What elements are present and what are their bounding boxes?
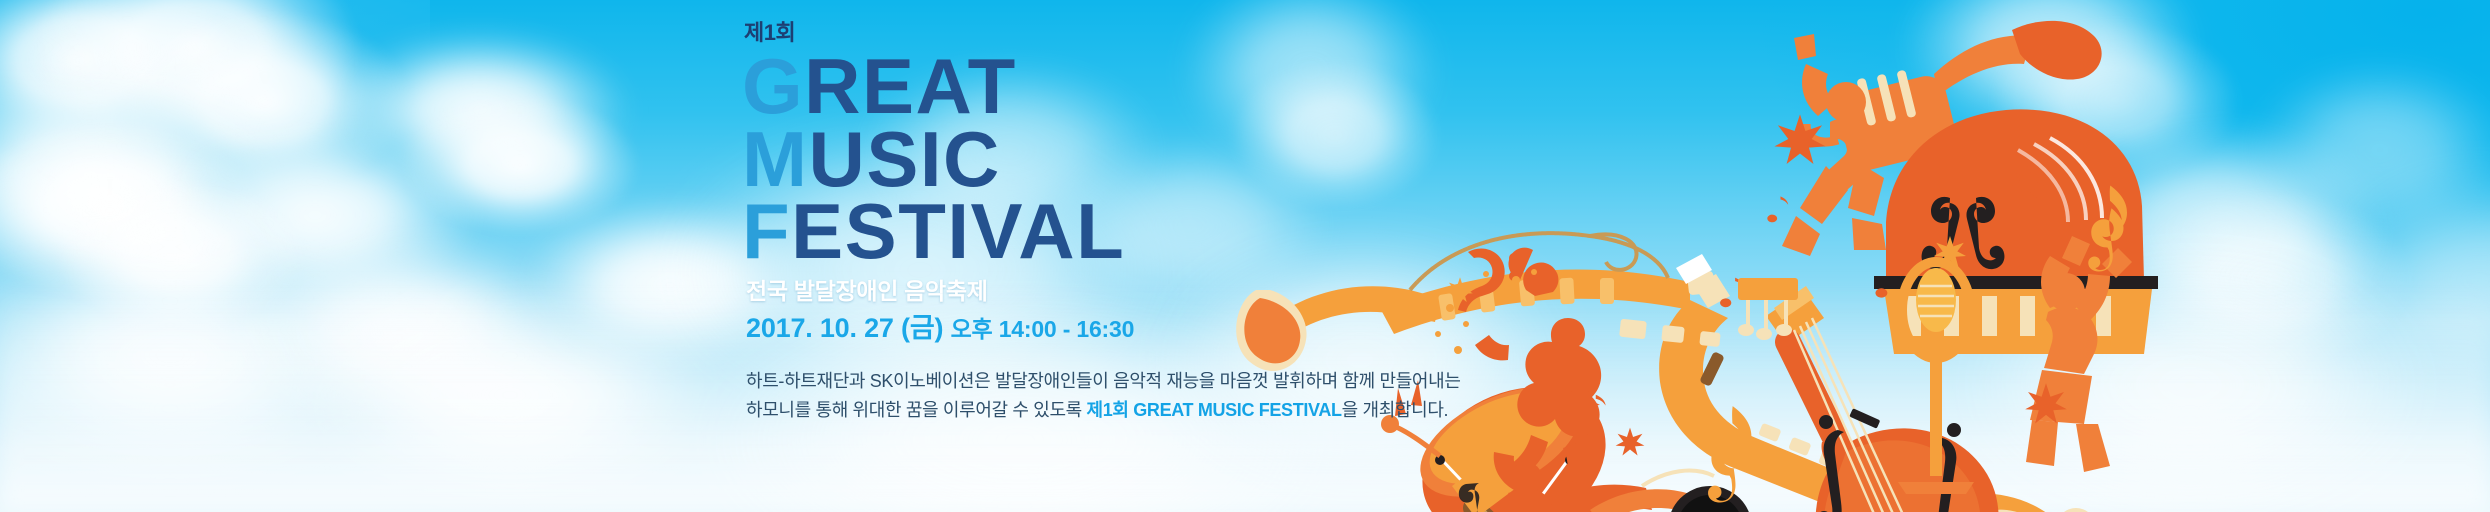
wordmark: GREAT MUSIC FESTIVAL bbox=[742, 50, 1502, 268]
kicker-label: 제1회 bbox=[744, 22, 1502, 44]
event-date: 2017. 10. 27 (금) bbox=[746, 313, 943, 343]
event-time: 오후 14:00 - 16:30 bbox=[951, 316, 1135, 342]
wordmark-line-2: MUSIC bbox=[742, 123, 1502, 196]
description-line-1: 하트-하트재단과 SK이노베이션은 발달장애인들이 음악적 재능을 마음껏 발휘… bbox=[746, 371, 1461, 391]
event-date-time: 2017. 10. 27 (금) 오후 14:00 - 16:30 bbox=[746, 312, 1502, 344]
description-line-2-pre: 하모니를 통해 위대한 꿈을 이루어갈 수 있도록 bbox=[746, 400, 1087, 420]
description-highlight: 제1회 GREAT MUSIC FESTIVAL bbox=[1087, 400, 1342, 420]
event-subtitle: 전국 발달장애인 음악축제 bbox=[746, 278, 1502, 306]
banner-copy: 제1회 GREAT MUSIC FESTIVAL 전국 발달장애인 음악축제 2… bbox=[742, 22, 1502, 425]
description-line-2-post: 을 개최합니다. bbox=[1342, 400, 1449, 420]
wordmark-rest-3: ESTIVAL bbox=[791, 187, 1125, 275]
wordmark-line-3: FESTIVAL bbox=[742, 195, 1502, 268]
event-description: 하트-하트재단과 SK이노베이션은 발달장애인들이 음악적 재능을 마음껏 발휘… bbox=[746, 367, 1466, 425]
festival-banner: 제1회 GREAT MUSIC FESTIVAL 전국 발달장애인 음악축제 2… bbox=[0, 0, 2490, 512]
wordmark-line-1: GREAT bbox=[742, 50, 1502, 123]
wordmark-lead-3: F bbox=[742, 187, 791, 275]
